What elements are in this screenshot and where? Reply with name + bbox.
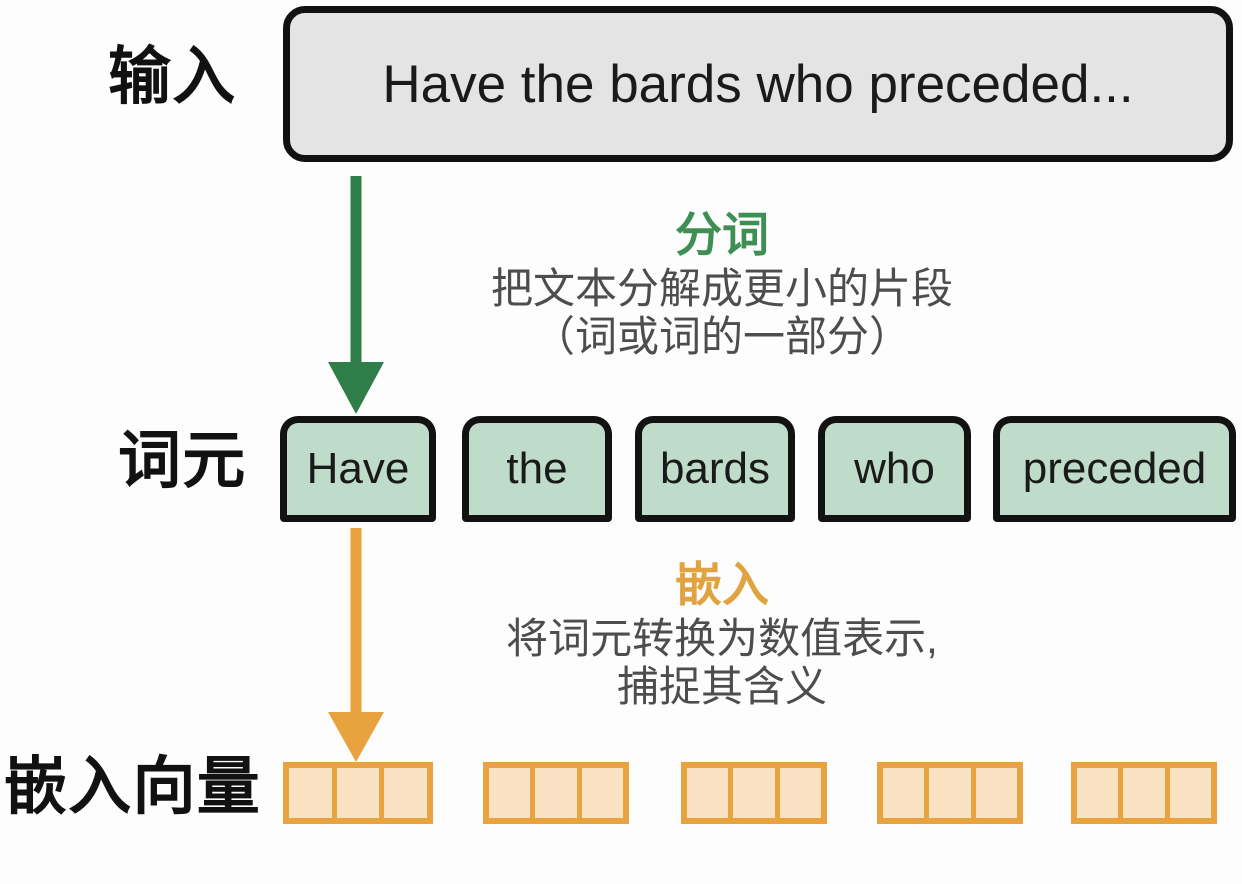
token-stage-label: 词元 xyxy=(118,430,247,493)
token-label: bards xyxy=(660,444,770,494)
vector-cell xyxy=(384,768,427,818)
embed-annotation: 嵌入 将词元转换为数值表示, 捕捉其含义 xyxy=(404,558,1040,712)
token-label: the xyxy=(506,444,567,494)
token-box: the xyxy=(462,416,612,522)
vector-cell xyxy=(1077,768,1123,818)
vector-cell xyxy=(535,768,581,818)
vector-cell xyxy=(687,768,733,818)
tokenize-annotation: 分词 把文本分解成更小的片段 （词或词的一部分） xyxy=(404,208,1040,362)
vector-cell xyxy=(883,768,929,818)
vector-cell xyxy=(976,768,1017,818)
embed-description-line-1: 将词元转换为数值表示, xyxy=(404,615,1040,664)
vector-group xyxy=(283,762,433,824)
vector-cell xyxy=(289,768,337,818)
vector-cell xyxy=(1123,768,1169,818)
vector-cell xyxy=(582,768,623,818)
token-box: who xyxy=(818,416,971,522)
arrow-shaft xyxy=(351,528,362,716)
token-label: preceded xyxy=(1023,444,1206,494)
vector-group xyxy=(681,762,827,824)
vector-cell xyxy=(1170,768,1211,818)
embed-title: 嵌入 xyxy=(404,558,1040,613)
vector-cell xyxy=(337,768,385,818)
vector-cell xyxy=(489,768,535,818)
token-box: bards xyxy=(635,416,795,522)
diagram-canvas: 输入 Have the bards who preceded... 分词 把文本… xyxy=(0,0,1242,884)
embed-description-line-2: 捕捉其含义 xyxy=(404,663,1040,712)
vector-cell xyxy=(929,768,975,818)
tokenize-description-line-1: 把文本分解成更小的片段 xyxy=(404,265,1040,314)
vector-group xyxy=(877,762,1023,824)
input-stage-label: 输入 xyxy=(108,46,237,109)
input-text-box: Have the bards who preceded... xyxy=(283,6,1233,162)
vector-cell xyxy=(780,768,821,818)
arrow-shaft xyxy=(351,176,362,366)
vector-cell xyxy=(733,768,779,818)
vector-group xyxy=(1071,762,1217,824)
tokenize-title: 分词 xyxy=(404,208,1040,263)
input-sentence-text: Have the bards who preceded... xyxy=(382,54,1133,115)
tokenize-description-line-2: （词或词的一部分） xyxy=(404,313,1040,362)
down-arrow-green-icon xyxy=(330,176,382,414)
vector-stage-label: 嵌入向量 xyxy=(4,756,261,819)
arrow-head xyxy=(328,712,384,762)
token-label: who xyxy=(854,444,935,494)
token-box: preceded xyxy=(993,416,1236,522)
arrow-head xyxy=(328,362,384,414)
vector-group xyxy=(483,762,629,824)
down-arrow-orange-icon xyxy=(330,528,382,762)
token-label: Have xyxy=(307,444,410,494)
token-box: Have xyxy=(280,416,436,522)
